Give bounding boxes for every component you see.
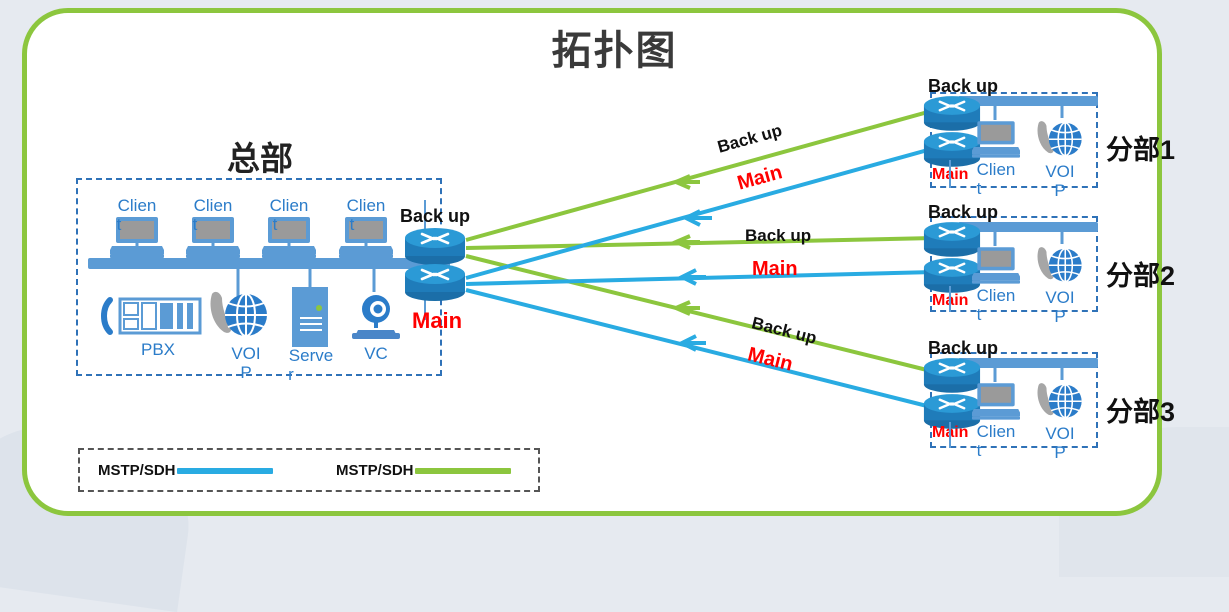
branch-3-main-tag: Main (932, 424, 968, 442)
hq-voip[interactable]: VOI P (206, 288, 270, 349)
branch-1-voip-label2: P (1034, 181, 1086, 200)
hq-client-2-label: Clien (186, 196, 240, 215)
branch-2-voip-label2: P (1034, 307, 1086, 326)
hq-pbx-label: PBX (128, 340, 188, 359)
branch-1-client[interactable]: Clien t (972, 120, 1020, 163)
hq-vc-label: VC (346, 344, 406, 363)
branch-2-voip-label: VOI (1034, 288, 1086, 307)
topology-canvas: 拓扑图 总部 (0, 0, 1229, 537)
headquarters-bus-line (88, 258, 450, 269)
link-label-branch1-main: Main (735, 161, 785, 195)
link-label-branch2-main: Main (752, 258, 798, 281)
branch-3-voip-label: VOI (1034, 424, 1086, 443)
voip-globe-icon (1034, 244, 1084, 288)
hq-client-4-label2: t (343, 215, 361, 234)
hq-main-tag: Main (412, 308, 462, 334)
branch-1-client-label2: t (968, 179, 990, 198)
laptop-icon (972, 120, 1020, 158)
branch-1-voip-label: VOI (1034, 162, 1086, 181)
hq-voip-label2: P (216, 363, 276, 382)
voip-globe-icon (206, 288, 270, 344)
branch-3-client-label2: t (968, 441, 990, 460)
branch-1-client-label: Clien (968, 160, 1024, 179)
legend-item-1-label: MSTP/SDH (98, 462, 176, 479)
branch-1-voip[interactable]: VOI P (1034, 118, 1084, 167)
hq-server-label: Serve (280, 346, 342, 365)
branch-2-client-label: Clien (968, 286, 1024, 305)
page-title: 拓扑图 (0, 18, 1229, 76)
server-icon (290, 286, 332, 348)
branch-3-voip[interactable]: VOI P (1034, 380, 1084, 429)
branch-1-name: 分部1 (1106, 128, 1175, 167)
branch-2-main-tag: Main (932, 292, 968, 310)
hq-voip-label: VOI (216, 344, 276, 363)
hq-pbx[interactable]: PBX (100, 292, 208, 345)
branch-3-voip-label2: P (1034, 443, 1086, 462)
link-label-branch3-backup: Back up (750, 313, 819, 348)
hq-client-4-label: Clien (339, 196, 393, 215)
pbx-icon (100, 292, 208, 340)
branch-1-main-tag: Main (932, 166, 968, 184)
hq-server[interactable]: Serve r (290, 286, 332, 353)
hq-router-main[interactable] (404, 262, 466, 302)
laptop-icon (972, 246, 1020, 284)
link-label-branch2-backup: Back up (745, 226, 811, 246)
laptop-icon (972, 382, 1020, 420)
router-icon (404, 262, 466, 302)
headquarters-title: 总部 (150, 132, 370, 180)
hq-client-3-label2: t (266, 215, 284, 234)
hq-vc[interactable]: VC (350, 292, 402, 347)
legend-item-2: MSTP/SDH (336, 462, 511, 479)
branch-3-client[interactable]: Clien t (972, 382, 1020, 425)
branch-2-name: 分部2 (1106, 254, 1175, 293)
hq-backup-tag: Back up (400, 206, 470, 227)
hq-client-3-label: Clien (262, 196, 316, 215)
link-label-branch1-backup: Back up (715, 121, 784, 158)
hq-client-1-label2: t (110, 215, 128, 234)
branch-2-voip[interactable]: VOI P (1034, 244, 1084, 293)
hq-server-label2: r (280, 365, 302, 384)
router-icon (404, 226, 466, 266)
branch-2-client-label2: t (968, 305, 990, 324)
hq-client-1-label: Clien (110, 196, 164, 215)
branch-2-client[interactable]: Clien t (972, 246, 1020, 289)
branch-3-client-label: Clien (968, 422, 1024, 441)
legend-item-1: MSTP/SDH (98, 462, 273, 479)
legend-item-1-swatch (177, 468, 273, 474)
voip-globe-icon (1034, 380, 1084, 424)
hq-client-2-label2: t (186, 215, 204, 234)
hq-router-backup[interactable] (404, 226, 466, 266)
branch-3-name: 分部3 (1106, 390, 1175, 429)
link-label-branch3-main: Main (745, 343, 795, 376)
video-conference-icon (350, 292, 402, 342)
legend-item-2-label: MSTP/SDH (336, 462, 414, 479)
legend-item-2-swatch (415, 468, 511, 474)
voip-globe-icon (1034, 118, 1084, 162)
